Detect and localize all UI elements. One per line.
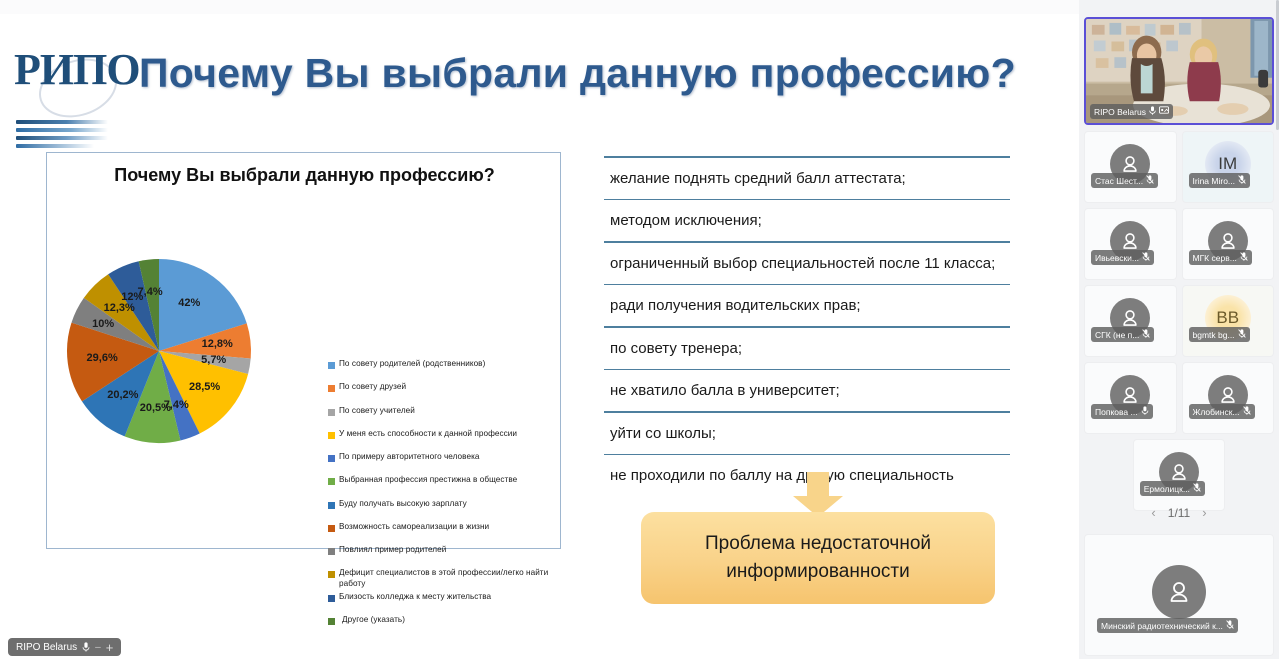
legend-label: Повлиял пример родителей: [339, 545, 446, 555]
participant-tile[interactable]: Жлобинск...: [1182, 362, 1275, 434]
participant-row: Попкова ...Жлобинск...: [1084, 362, 1274, 434]
reason-text: ограниченный выбор специальностей после …: [604, 243, 1010, 284]
pie-slice-label: 10%: [92, 318, 114, 330]
participant-name: Жлобинск...: [1193, 407, 1240, 417]
speaker-name-chip: RIPO Belarus: [1090, 104, 1173, 119]
logo-text: РИПО: [14, 48, 126, 92]
reason-item: уйти со школы;: [604, 411, 1010, 454]
legend-label: У меня есть способности к данной професс…: [339, 429, 517, 439]
legend-item: У меня есть способности к данной професс…: [328, 429, 556, 439]
participant-name: Минский радиотехнический к...: [1101, 621, 1223, 631]
microphone-muted-icon: [1193, 483, 1201, 494]
microphone-muted-icon: [1240, 252, 1248, 263]
pie-slice-label: 42%: [178, 297, 200, 309]
reason-item: методом исключения;: [604, 199, 1010, 242]
legend-label: По примеру авторитетного человека: [339, 452, 480, 462]
screen-root: РИПО Почему Вы выбрали данную профессию?…: [0, 0, 1279, 659]
pie-slice-label: 5,7%: [201, 354, 226, 366]
minimize-button[interactable]: –: [95, 642, 101, 653]
reason-item: ограниченный выбор специальностей после …: [604, 241, 1010, 284]
legend-color-swatch: [328, 432, 335, 439]
legend-item: Повлиял пример родителей: [328, 545, 556, 555]
legend-item: Другое (указать): [328, 615, 556, 625]
reason-text: по совету тренера;: [604, 328, 1010, 369]
participant-tile[interactable]: BBbgmtk bg...: [1182, 285, 1275, 357]
reason-item: по совету тренера;: [604, 326, 1010, 369]
legend-color-swatch: [328, 595, 335, 602]
legend-color-swatch: [328, 385, 335, 392]
legend-item: По совету родителей (родственников): [328, 359, 556, 369]
callout-box: Проблема недостаточной информированности: [641, 512, 995, 604]
legend-color-swatch: [328, 502, 335, 509]
participant-name: Попкова ...: [1095, 407, 1138, 417]
logo-bar-3: [16, 136, 108, 140]
legend-color-swatch: [328, 409, 335, 416]
participant-name-chip: Irina Miro...: [1189, 173, 1251, 188]
participant-tile[interactable]: Ивьевски...: [1084, 208, 1177, 280]
speaker-name: RIPO Belarus: [1094, 107, 1146, 117]
legend-item: Возможность самореализации в жизни: [328, 522, 556, 532]
pager-prev-icon[interactable]: ‹: [1151, 505, 1155, 520]
participant-name-chip: МГК серв...: [1189, 250, 1252, 265]
legend-item: По совету друзей: [328, 382, 556, 392]
participant-pager: ‹ 1/11 ›: [1084, 505, 1274, 520]
video-conference-sidebar: RIPO Belarus Стас Шест...IMIrina Miro...…: [1079, 0, 1279, 659]
pie-slice-label: 28,5%: [189, 381, 220, 393]
participant-name-chip: Минский радиотехнический к...: [1097, 618, 1238, 633]
participant-row: Ивьевски...МГК серв...: [1084, 208, 1274, 280]
legend-label: Другое (указать): [339, 615, 405, 625]
legend-color-swatch: [328, 478, 335, 485]
chart-card: Почему Вы выбрали данную профессию? 42%1…: [46, 152, 561, 549]
ripo-logo: РИПО: [14, 48, 126, 144]
slide-top-band: [0, 0, 1079, 14]
microphone-muted-icon: [1142, 252, 1150, 263]
legend-label: Буду получать высокую зарплату: [339, 499, 467, 509]
participant-row: СГК (не п...BBbgmtk bg...: [1084, 285, 1274, 357]
legend-item: Буду получать высокую зарплату: [328, 499, 556, 509]
avatar: [1152, 565, 1206, 619]
participant-tile[interactable]: СГК (не п...: [1084, 285, 1177, 357]
reason-text: желание поднять средний балл аттестата;: [604, 158, 1010, 199]
logo-bar-1: [16, 120, 108, 124]
microphone-muted-icon: [1142, 329, 1150, 340]
participant-name-chip: Стас Шест...: [1091, 173, 1158, 188]
participant-name: Стас Шест...: [1095, 176, 1143, 186]
pie-chart: 42%12,8%5,7%28,5%7,4%20,5%20,2%29,6%10%1…: [57, 215, 297, 475]
legend-item: Близость колледжа к месту жительства: [328, 592, 556, 602]
microphone-muted-icon: [82, 642, 90, 652]
legend-item: По совету учителей: [328, 406, 556, 416]
reason-text: уйти со школы;: [604, 413, 1010, 454]
legend-label: По совету родителей (родственников): [339, 359, 485, 369]
participant-tile[interactable]: Ермолицк...: [1133, 439, 1226, 511]
participant-tile[interactable]: Стас Шест...: [1084, 131, 1177, 203]
participant-row: Ермолицк...: [1084, 439, 1274, 511]
microphone-muted-icon: [1243, 406, 1251, 417]
participant-name-chip: Попкова ...: [1091, 404, 1153, 419]
microphone-muted-icon: [1226, 620, 1234, 631]
participant-name-chip: Ермолицк...: [1140, 481, 1205, 496]
participant-name: Ивьевски...: [1095, 253, 1139, 263]
legend-label: Дефицит специалистов в этой профессии/ле…: [339, 568, 556, 589]
legend-color-swatch: [328, 571, 335, 578]
reason-item: не хватило балла в университет;: [604, 369, 1010, 412]
participant-tile-bottom[interactable]: Минский радиотехнический к...: [1084, 534, 1274, 656]
participant-name: bgmtk bg...: [1193, 330, 1235, 340]
pie-slice-label: 20,5%: [140, 402, 171, 414]
microphone-muted-icon: [1238, 329, 1246, 340]
screen-share-icon: [1159, 106, 1169, 117]
pager-next-icon[interactable]: ›: [1202, 505, 1206, 520]
expand-button[interactable]: +: [106, 640, 114, 655]
microphone-icon: [1141, 406, 1149, 417]
reason-text: ради получения водительских прав;: [604, 285, 1010, 326]
participant-name-chip: СГК (не п...: [1091, 327, 1154, 342]
participant-name: МГК серв...: [1193, 253, 1237, 263]
reason-item: желание поднять средний балл аттестата;: [604, 156, 1010, 199]
pie-slice-label: 7,4%: [138, 286, 163, 298]
active-speaker-tile[interactable]: RIPO Belarus: [1084, 17, 1274, 125]
presentation-slide: РИПО Почему Вы выбрали данную профессию?…: [0, 0, 1079, 659]
callout-text: Проблема недостаточной информированности: [641, 530, 995, 585]
legend-label: По совету друзей: [339, 382, 406, 392]
participant-tile[interactable]: IMIrina Miro...: [1182, 131, 1275, 203]
reason-item: ради получения водительских прав;: [604, 284, 1010, 327]
participant-name-chip: Жлобинск...: [1189, 404, 1255, 419]
pager-count: 1/11: [1168, 506, 1190, 520]
legend-label: Близость колледжа к месту жительства: [339, 592, 491, 602]
logo-bar-2: [16, 128, 108, 132]
pie-slice-label: 20,2%: [107, 389, 138, 401]
microphone-icon: [1149, 106, 1156, 117]
pie-slice-label: 29,6%: [87, 352, 118, 364]
reason-text: методом исключения;: [604, 200, 1010, 241]
participant-name: Ермолицк...: [1144, 484, 1190, 494]
participant-name: СГК (не п...: [1095, 330, 1139, 340]
participant-name-chip: bgmtk bg...: [1189, 327, 1250, 342]
taskbar-self-view-pill[interactable]: RIPO Belarus – +: [8, 638, 121, 656]
microphone-muted-icon: [1238, 175, 1246, 186]
taskbar-label: RIPO Belarus: [16, 642, 77, 653]
reason-text: не хватило балла в университет;: [604, 370, 1010, 411]
microphone-muted-icon: [1146, 175, 1154, 186]
chart-title: Почему Вы выбрали данную профессию?: [47, 165, 562, 186]
reasons-list: желание поднять средний балл аттестата;м…: [604, 156, 1010, 496]
logo-bar-4: [16, 144, 94, 148]
legend-color-swatch: [328, 618, 335, 625]
participant-tile[interactable]: Попкова ...: [1084, 362, 1177, 434]
legend-color-swatch: [328, 455, 335, 462]
participant-grid: Стас Шест...IMIrina Miro...Ивьевски...МГ…: [1084, 131, 1274, 511]
participant-tile[interactable]: МГК серв...: [1182, 208, 1275, 280]
legend-color-swatch: [328, 548, 335, 555]
slide-title: Почему Вы выбрали данную профессию?: [139, 50, 1016, 97]
legend-color-swatch: [328, 362, 335, 369]
pie-slice-label: 12,3%: [104, 302, 135, 314]
participant-row: Стас Шест...IMIrina Miro...: [1084, 131, 1274, 203]
legend-color-swatch: [328, 525, 335, 532]
chart-legend: По совету родителей (родственников)По со…: [328, 359, 556, 638]
legend-label: Возможность самореализации в жизни: [339, 522, 489, 532]
participant-name: Irina Miro...: [1193, 176, 1236, 186]
legend-item: По примеру авторитетного человека: [328, 452, 556, 462]
legend-item: Выбранная профессия престижна в обществе: [328, 475, 556, 485]
participant-name-chip: Ивьевски...: [1091, 250, 1154, 265]
legend-label: Выбранная профессия престижна в обществе: [339, 475, 517, 485]
pie-slice-label: 12,8%: [202, 338, 233, 350]
legend-label: По совету учителей: [339, 406, 415, 416]
legend-item: Дефицит специалистов в этой профессии/ле…: [328, 568, 556, 589]
